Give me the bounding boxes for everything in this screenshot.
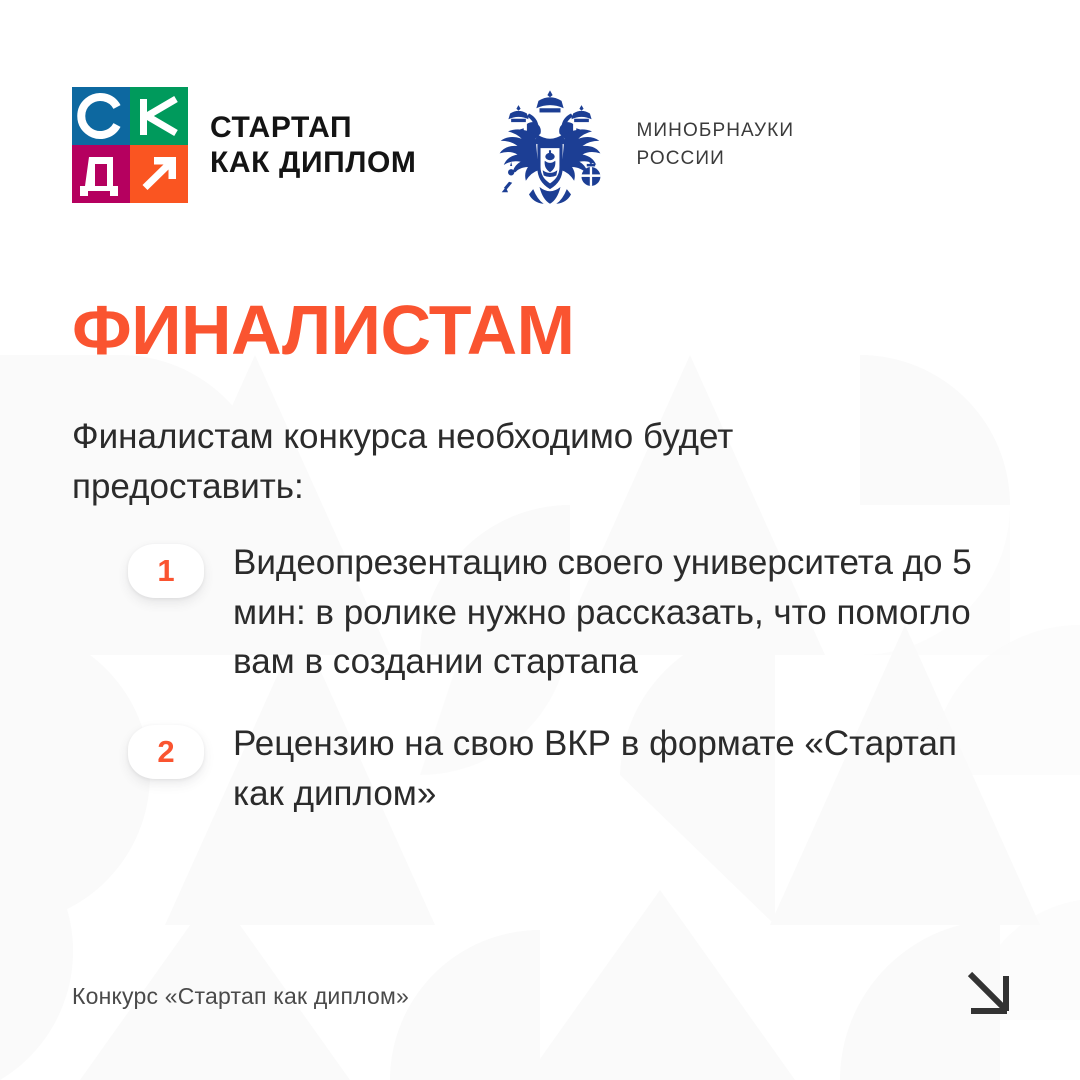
- list-item-text: Видеопрезентацию своего университета до …: [233, 538, 1003, 687]
- skd-brand-lockup: СТАРТАП КАК ДИПЛОМ: [72, 87, 417, 203]
- list-item: 2 Рецензию на свою ВКР в формате «Старта…: [128, 719, 1028, 818]
- brand-title: СТАРТАП КАК ДИПЛОМ: [210, 110, 417, 181]
- ministry-lockup: МИНОБРНАУКИ РОССИИ: [487, 82, 795, 208]
- logo-cell-magenta-d: [72, 145, 130, 203]
- list-item-number-badge: 1: [128, 544, 204, 598]
- logo-cell-blue-s: [72, 87, 130, 145]
- list-item: 1 Видеопрезентацию своего университета д…: [128, 538, 1028, 687]
- skd-logo-icon: [72, 87, 188, 203]
- arrow-down-right-icon: [962, 966, 1018, 1022]
- lead-paragraph: Финалистам конкурса необходимо будет пре…: [72, 412, 902, 511]
- logo-cell-orange-arrow: [130, 145, 188, 203]
- header: СТАРТАП КАК ДИПЛОМ: [72, 82, 794, 208]
- list-item-text: Рецензию на свою ВКР в формате «Стартап …: [233, 719, 1003, 818]
- requirements-list: 1 Видеопрезентацию своего университета д…: [128, 538, 1028, 850]
- footer-note: Конкурс «Стартап как диплом»: [72, 983, 409, 1010]
- page-title: ФИНАЛИСТАМ: [72, 295, 574, 365]
- logo-cell-green-k: [130, 87, 188, 145]
- list-item-number-badge: 2: [128, 725, 204, 779]
- russian-double-headed-eagle-emblem-icon: [487, 82, 613, 208]
- ministry-title: МИНОБРНАУКИ РОССИИ: [637, 117, 795, 172]
- poster-slide: СТАРТАП КАК ДИПЛОМ: [0, 0, 1080, 1080]
